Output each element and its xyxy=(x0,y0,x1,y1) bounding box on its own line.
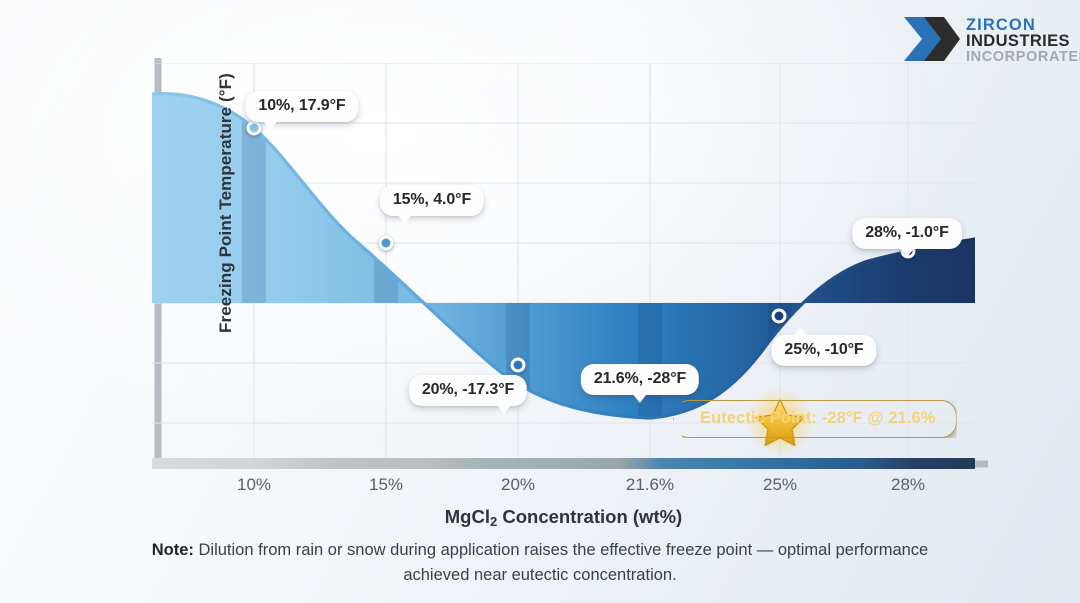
data-callout: 10%, 17.9°F xyxy=(245,91,358,122)
data-point-marker[interactable] xyxy=(379,236,394,251)
callout-tail xyxy=(793,327,807,336)
callout-tail xyxy=(497,405,511,414)
area-fill xyxy=(152,94,975,418)
chevron-logo-icon xyxy=(900,11,962,67)
callout-tail xyxy=(900,248,914,257)
chart-canvas: ZIRCON INDUSTRIES INCORPORATED xyxy=(0,0,1080,603)
y-axis-title: Freezing Point Temperature (°F) xyxy=(216,53,236,353)
data-point-marker[interactable] xyxy=(247,121,262,136)
x-tick-label: 20% xyxy=(458,475,578,495)
callout-text: 15%, 4.0°F xyxy=(393,191,471,208)
callout-text: 21.6%, -28°F xyxy=(594,370,686,387)
data-callout: 25%, -10°F xyxy=(771,335,876,366)
callout-tail xyxy=(263,121,277,130)
footnote-text: Dilution from rain or snow during applic… xyxy=(194,541,928,584)
x-axis-title: MgCl2 Concentration (wt%) xyxy=(152,506,975,529)
callout-text: 25%, -10°F xyxy=(784,341,863,358)
data-point-marker[interactable] xyxy=(511,358,526,373)
x-tick-label: 28% xyxy=(848,475,968,495)
x-tick-label: 21.6% xyxy=(590,475,710,495)
callout-text: 10%, 17.9°F xyxy=(258,97,345,114)
callout-tail xyxy=(633,394,647,403)
callout-text: 20%, -17.3°F xyxy=(422,381,514,398)
x-tick-label: 15% xyxy=(326,475,446,495)
logo-line-3: INCORPORATED xyxy=(966,50,1080,65)
data-point-marker[interactable] xyxy=(772,309,787,324)
data-callout: 20%, -17.3°F xyxy=(409,375,527,406)
footnote: Note: Dilution from rain or snow during … xyxy=(120,538,960,588)
eutectic-point-badge[interactable]: Eutectic Point: -28°F @ 21.6% xyxy=(673,400,957,438)
data-callout: 15%, 4.0°F xyxy=(380,185,484,216)
logo-line-1: ZIRCON xyxy=(966,17,1036,34)
plot-area: 10%, 17.9°F 15%, 4.0°F 20%, -17.3°F 21.6… xyxy=(152,63,975,465)
x-tick-label: 25% xyxy=(720,475,840,495)
logo-line-2: INDUSTRIES xyxy=(966,33,1070,50)
data-callout: 28%, -1.0°F xyxy=(852,218,962,249)
data-callout: 21.6%, -28°F xyxy=(581,364,699,395)
x-axis-gradient-bar xyxy=(152,458,975,469)
callout-tail xyxy=(398,215,412,224)
company-logo: ZIRCON INDUSTRIES INCORPORATED xyxy=(900,8,1066,70)
x-tick-label: 10% xyxy=(194,475,314,495)
footnote-label: Note: xyxy=(152,541,194,559)
callout-text: 28%, -1.0°F xyxy=(865,224,949,241)
